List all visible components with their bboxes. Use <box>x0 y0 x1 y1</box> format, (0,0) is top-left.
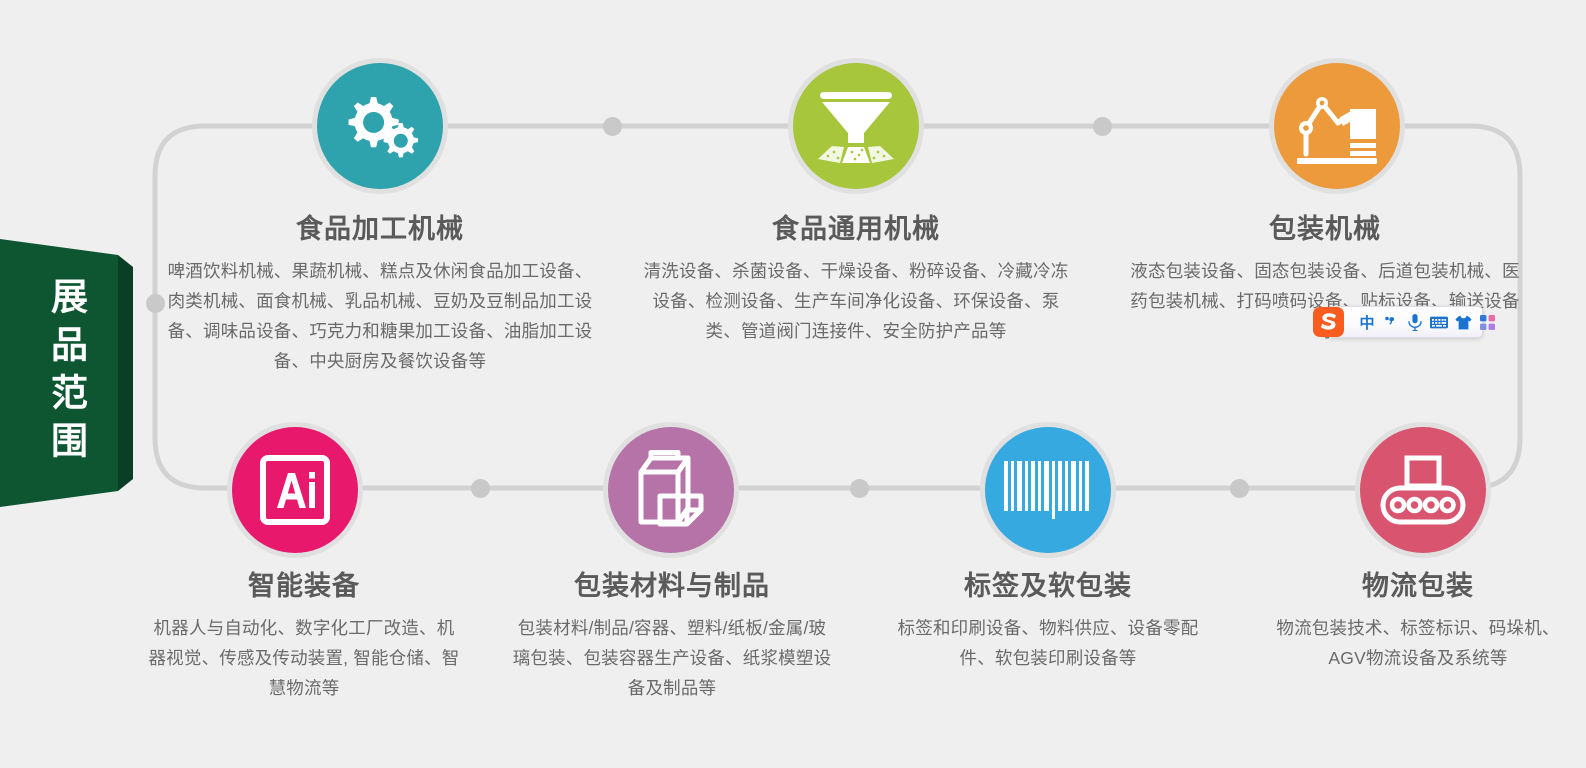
node-logistics-packaging[interactable] <box>1360 427 1486 553</box>
text-block-logistics-packaging: 物流包装 物流包装技术、标签标识、码垛机、AGV物流设备及系统等 <box>1259 572 1577 673</box>
category-title: 智能装备 <box>148 572 460 602</box>
connector-dot-5 <box>1230 479 1249 498</box>
soft-keyboard-icon[interactable] <box>1427 308 1451 336</box>
robot-arm-icon <box>1295 87 1379 165</box>
text-block-food-general-machinery: 食品通用机械 清洗设备、杀菌设备、干燥设备、粉碎设备、冷藏冷冻设备、检测设备、生… <box>640 215 1072 346</box>
conveyor-belt-icon <box>1380 455 1466 525</box>
toolbox-icon[interactable] <box>1475 308 1499 336</box>
ai-badge-icon <box>259 454 331 526</box>
category-description: 标签和印刷设备、物料供应、设备零配件、软包装印刷设备等 <box>885 613 1211 673</box>
category-description: 包装材料/制品/容器、塑料/纸板/金属/玻璃包装、包装容器生产设备、纸浆模塑设备… <box>512 613 832 703</box>
node-food-general-machinery[interactable] <box>793 63 919 189</box>
category-title: 包装机械 <box>1125 215 1525 245</box>
milk-carton-icon <box>630 450 712 530</box>
category-title: 食品通用机械 <box>640 215 1072 245</box>
connector-dot-3 <box>471 479 490 498</box>
exhibit-scope-banner: 展品范围 <box>0 239 133 507</box>
hopper-funnel-icon <box>814 89 898 163</box>
category-title: 食品加工机械 <box>162 215 598 245</box>
text-block-intelligent-equipment: 智能装备 机器人与自动化、数字化工厂改造、机器视觉、传感及传动装置, 智能仓储、… <box>148 572 460 703</box>
banner-text-wrap: 展品范围 <box>0 239 118 507</box>
sogou-ime-toolbar[interactable]: 中 <box>1328 306 1483 338</box>
node-packaging-machinery[interactable] <box>1274 63 1400 189</box>
category-description: 清洗设备、杀菌设备、干燥设备、粉碎设备、冷藏冷冻设备、检测设备、生产车间净化设备… <box>640 256 1072 346</box>
text-block-packaging-materials: 包装材料与制品 包装材料/制品/容器、塑料/纸板/金属/玻璃包装、包装容器生产设… <box>512 572 832 703</box>
input-mode-chinese[interactable]: 中 <box>1355 308 1379 336</box>
sogou-s-logo[interactable] <box>1309 303 1349 341</box>
category-description: 物流包装技术、标签标识、码垛机、AGV物流设备及系统等 <box>1259 613 1577 673</box>
category-title: 标签及软包装 <box>885 572 1211 602</box>
skin-icon[interactable] <box>1451 308 1475 336</box>
punctuation-toggle[interactable] <box>1379 308 1403 336</box>
text-block-food-processing-machinery: 食品加工机械 啤酒饮料机械、果蔬机械、糕点及休闲食品加工设备、肉类机械、面食机械… <box>162 215 598 376</box>
connector-dot-2 <box>1093 117 1112 136</box>
category-description: 机器人与自动化、数字化工厂改造、机器视觉、传感及传动装置, 智能仓储、智慧物流等 <box>148 613 460 703</box>
category-title: 包装材料与制品 <box>512 572 832 602</box>
text-block-labels-flexible-packaging: 标签及软包装 标签和印刷设备、物料供应、设备零配件、软包装印刷设备等 <box>885 572 1211 673</box>
node-labels-flexible-packaging[interactable] <box>985 427 1111 553</box>
ime-items: 中 <box>1329 308 1499 336</box>
banner-label: 展品范围 <box>48 277 85 469</box>
category-description: 啤酒饮料机械、果蔬机械、糕点及休闲食品加工设备、肉类机械、面食机械、乳品机械、豆… <box>162 256 598 376</box>
node-food-processing-machinery[interactable] <box>317 63 443 189</box>
connector-dot-4 <box>850 479 869 498</box>
infographic-canvas: 展品范围 <box>0 0 1586 768</box>
barcode-icon <box>1004 461 1092 519</box>
node-packaging-materials[interactable] <box>608 427 734 553</box>
connector-dot-1 <box>603 117 622 136</box>
voice-input-icon[interactable] <box>1403 308 1427 336</box>
gears-icon <box>341 91 419 161</box>
category-title: 物流包装 <box>1259 572 1577 602</box>
node-intelligent-equipment[interactable] <box>232 427 358 553</box>
